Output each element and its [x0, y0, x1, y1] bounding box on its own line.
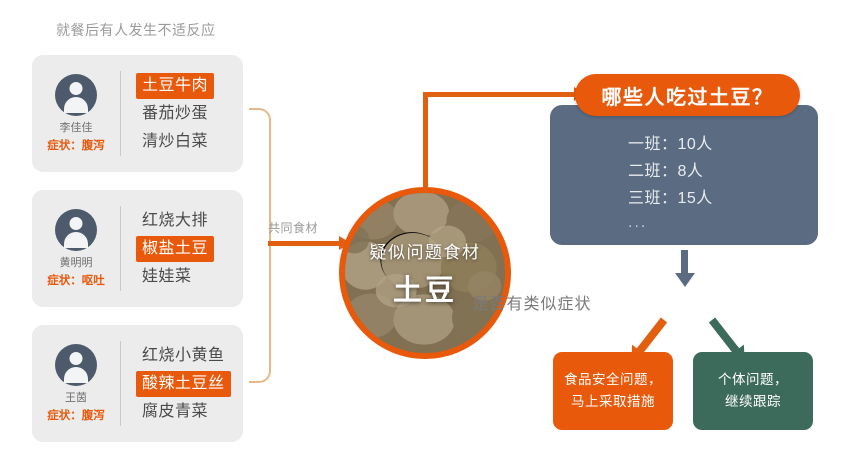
outcome-line-1: 个体问题，: [718, 369, 788, 391]
circle-item-name: 土豆: [393, 267, 457, 309]
dish-item-highlighted: 椒盐土豆: [136, 236, 214, 262]
dish-list: 红烧大排 椒盐土豆 娃娃菜: [136, 208, 214, 290]
dish-item: 腐皮青菜: [136, 399, 231, 425]
outcome-line-2: 马上采取措施: [571, 391, 655, 413]
person-card: 王茵 症状：腹泻 红烧小黄鱼 酸辣土豆丝 腐皮青菜: [32, 325, 243, 442]
list-item: 二班：8人: [628, 158, 740, 185]
dish-list: 红烧小黄鱼 酸辣土豆丝 腐皮青菜: [136, 343, 231, 425]
person-symptom: 症状：腹泻: [47, 138, 105, 154]
person-avatar-icon: [55, 209, 97, 251]
class-count-list: 一班：10人 二班：8人 三班：15人 ...: [550, 131, 818, 234]
outcome-individual: 个体问题， 继续跟踪: [693, 352, 813, 430]
card-divider: [120, 71, 121, 156]
elbow-arrow-icon: [423, 92, 428, 192]
dish-item: 娃娃菜: [136, 264, 214, 290]
who-ate-header-pill: 哪些人吃过土豆？: [575, 74, 800, 116]
outcome-line-2: 继续跟踪: [725, 391, 781, 413]
person-identity: 李佳佳 症状：腹泻: [32, 55, 120, 172]
list-item: 一班：10人: [628, 131, 740, 158]
person-name: 李佳佳: [60, 121, 93, 135]
dish-item-highlighted: 酸辣土豆丝: [136, 371, 231, 397]
card-divider: [120, 341, 121, 426]
list-ellipsis: ...: [628, 212, 740, 234]
right-arrow-icon: [268, 241, 340, 246]
who-ate-panel: 一班：10人 二班：8人 三班：15人 ...: [550, 105, 818, 245]
person-card: 李佳佳 症状：腹泻 土豆牛肉 番茄炒蛋 清炒白菜: [32, 55, 243, 172]
dish-item: 清炒白菜: [136, 129, 214, 155]
dish-item-highlighted: 土豆牛肉: [136, 73, 214, 99]
person-name: 王茵: [65, 391, 87, 405]
dish-list: 土豆牛肉 番茄炒蛋 清炒白菜: [136, 73, 214, 155]
person-identity: 王茵 症状：腹泻: [32, 325, 120, 442]
common-ingredient-label: 共同食材: [268, 219, 318, 236]
diagonal-arrow-right-icon: [709, 318, 740, 354]
person-name: 黄明明: [60, 256, 93, 270]
person-symptom: 症状：腹泻: [47, 408, 105, 424]
elbow-arrow-head-icon: [423, 92, 575, 97]
diagonal-arrow-left-icon: [636, 318, 667, 354]
diagram-canvas: 就餐后有人发生不适反应 李佳佳 症状：腹泻 土豆牛肉 番茄炒蛋 清炒白菜 黄明明…: [0, 0, 844, 465]
suspect-ingredient-circle: 疑似问题食材 土豆: [339, 187, 511, 359]
circle-caption: 疑似问题食材: [370, 238, 481, 263]
dish-item: 番茄炒蛋: [136, 101, 214, 127]
branch-question-text: 是否有类似症状: [472, 296, 591, 313]
person-symptom: 症状：呕吐: [47, 273, 105, 289]
page-title: 就餐后有人发生不适反应: [56, 20, 216, 40]
card-divider: [120, 206, 121, 291]
outcome-line-1: 食品安全问题，: [564, 369, 662, 391]
down-arrow-icon: [681, 250, 688, 274]
outcome-food-safety: 食品安全问题， 马上采取措施: [553, 352, 673, 430]
list-item: 三班：15人: [628, 185, 740, 212]
person-avatar-icon: [55, 344, 97, 386]
dish-item: 红烧小黄鱼: [136, 343, 231, 369]
dish-item: 红烧大排: [136, 208, 214, 234]
person-avatar-icon: [55, 74, 97, 116]
